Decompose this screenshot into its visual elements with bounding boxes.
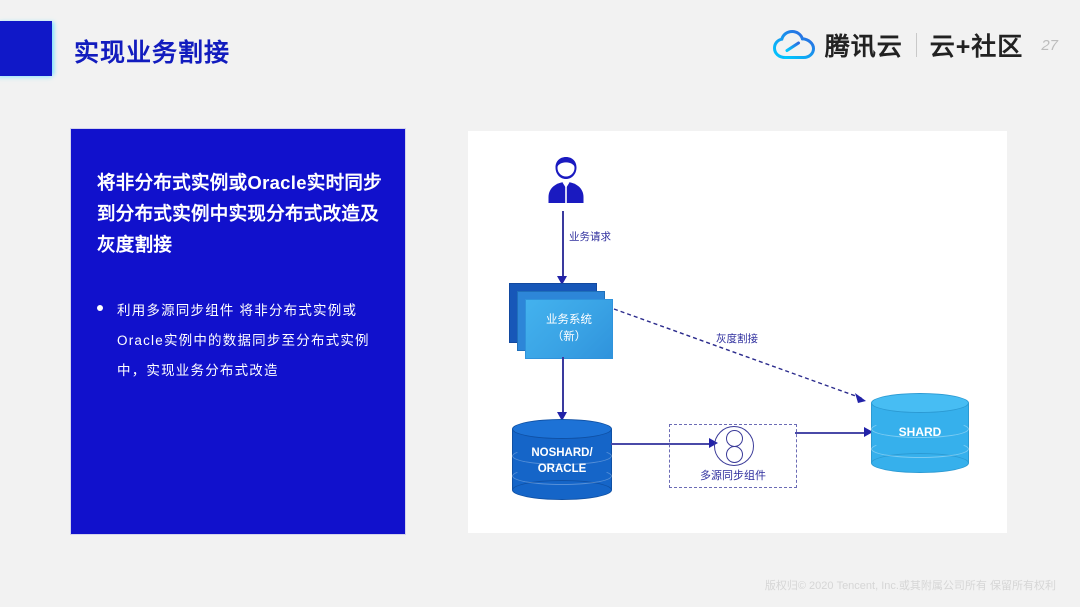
business-system-node[interactable]: 业务系统 （新） [509,283,611,357]
footer-copyright: 版权归© 2020 Tencent, Inc.或其附属公司所有 保留所有权利 [765,577,1056,593]
logo-primary-text: 腾讯云 [825,27,903,63]
panel-heading: 将非分布式实例或Oracle实时同步到分布式实例中实现分布式改造及灰度割接 [97,167,385,260]
source-database-label: NOSHARD/ ORACLE [512,445,612,477]
source-database-node[interactable]: NOSHARD/ ORACLE [512,419,612,500]
flow-connector-request [562,211,564,278]
panel-bullet-list: 利用多源同步组件 将非分布式实例或Oracle实例中的数据同步至分布式实例中，实… [97,296,389,386]
business-system-layer-front: 业务系统 （新） [525,299,613,359]
title-accent-square [0,21,52,76]
sync-component-label: 多源同步组件 [670,467,796,483]
architecture-diagram: 灰度割接 业务请求 业务系统 （新） NOSHARD/ ORA [468,131,1007,533]
flow-connector-to-source-db [562,357,564,415]
sync-component-node[interactable]: 多源同步组件 [669,424,797,488]
flow-label-request: 业务请求 [569,229,611,244]
logo-divider [916,33,917,57]
bullet-text: 利用多源同步组件 将非分布式实例或Oracle实例中的数据同步至分布式实例中，实… [117,296,389,386]
sync-circle-inner-bottom [726,446,743,463]
sync-circle-inner-top [726,430,743,447]
list-item: 利用多源同步组件 将非分布式实例或Oracle实例中的数据同步至分布式实例中，实… [97,296,389,386]
page-number: 27 [1041,37,1058,54]
brand-logo-group: 腾讯云 云+社区 27 [773,27,1058,63]
summary-panel: 将非分布式实例或Oracle实时同步到分布式实例中实现分布式改造及灰度割接 利用… [71,129,405,534]
bullet-dot-icon [97,305,103,311]
source-database-label-line1: NOSHARD/ [512,445,612,461]
tencent-cloud-icon [773,30,815,60]
source-database-label-line2: ORACLE [512,461,612,477]
sync-circle-icon [714,426,754,466]
gray-cut-label: 灰度割接 [716,331,758,346]
cylinder-top [871,393,969,413]
logo-secondary-text: 云+社区 [930,27,1024,63]
business-system-label-line2: （新） [552,329,587,346]
cylinder-ring-2 [871,440,969,458]
sync-connector-out [795,432,868,434]
page-title: 实现业务割接 [74,33,230,69]
business-system-label-line1: 业务系统 [546,312,592,329]
target-database-label: SHARD [871,425,969,439]
target-database-node[interactable]: SHARD [871,393,969,473]
cylinder-top [512,419,612,439]
slide-header: 实现业务割接 腾讯云 云+社区 27 [0,0,1080,100]
